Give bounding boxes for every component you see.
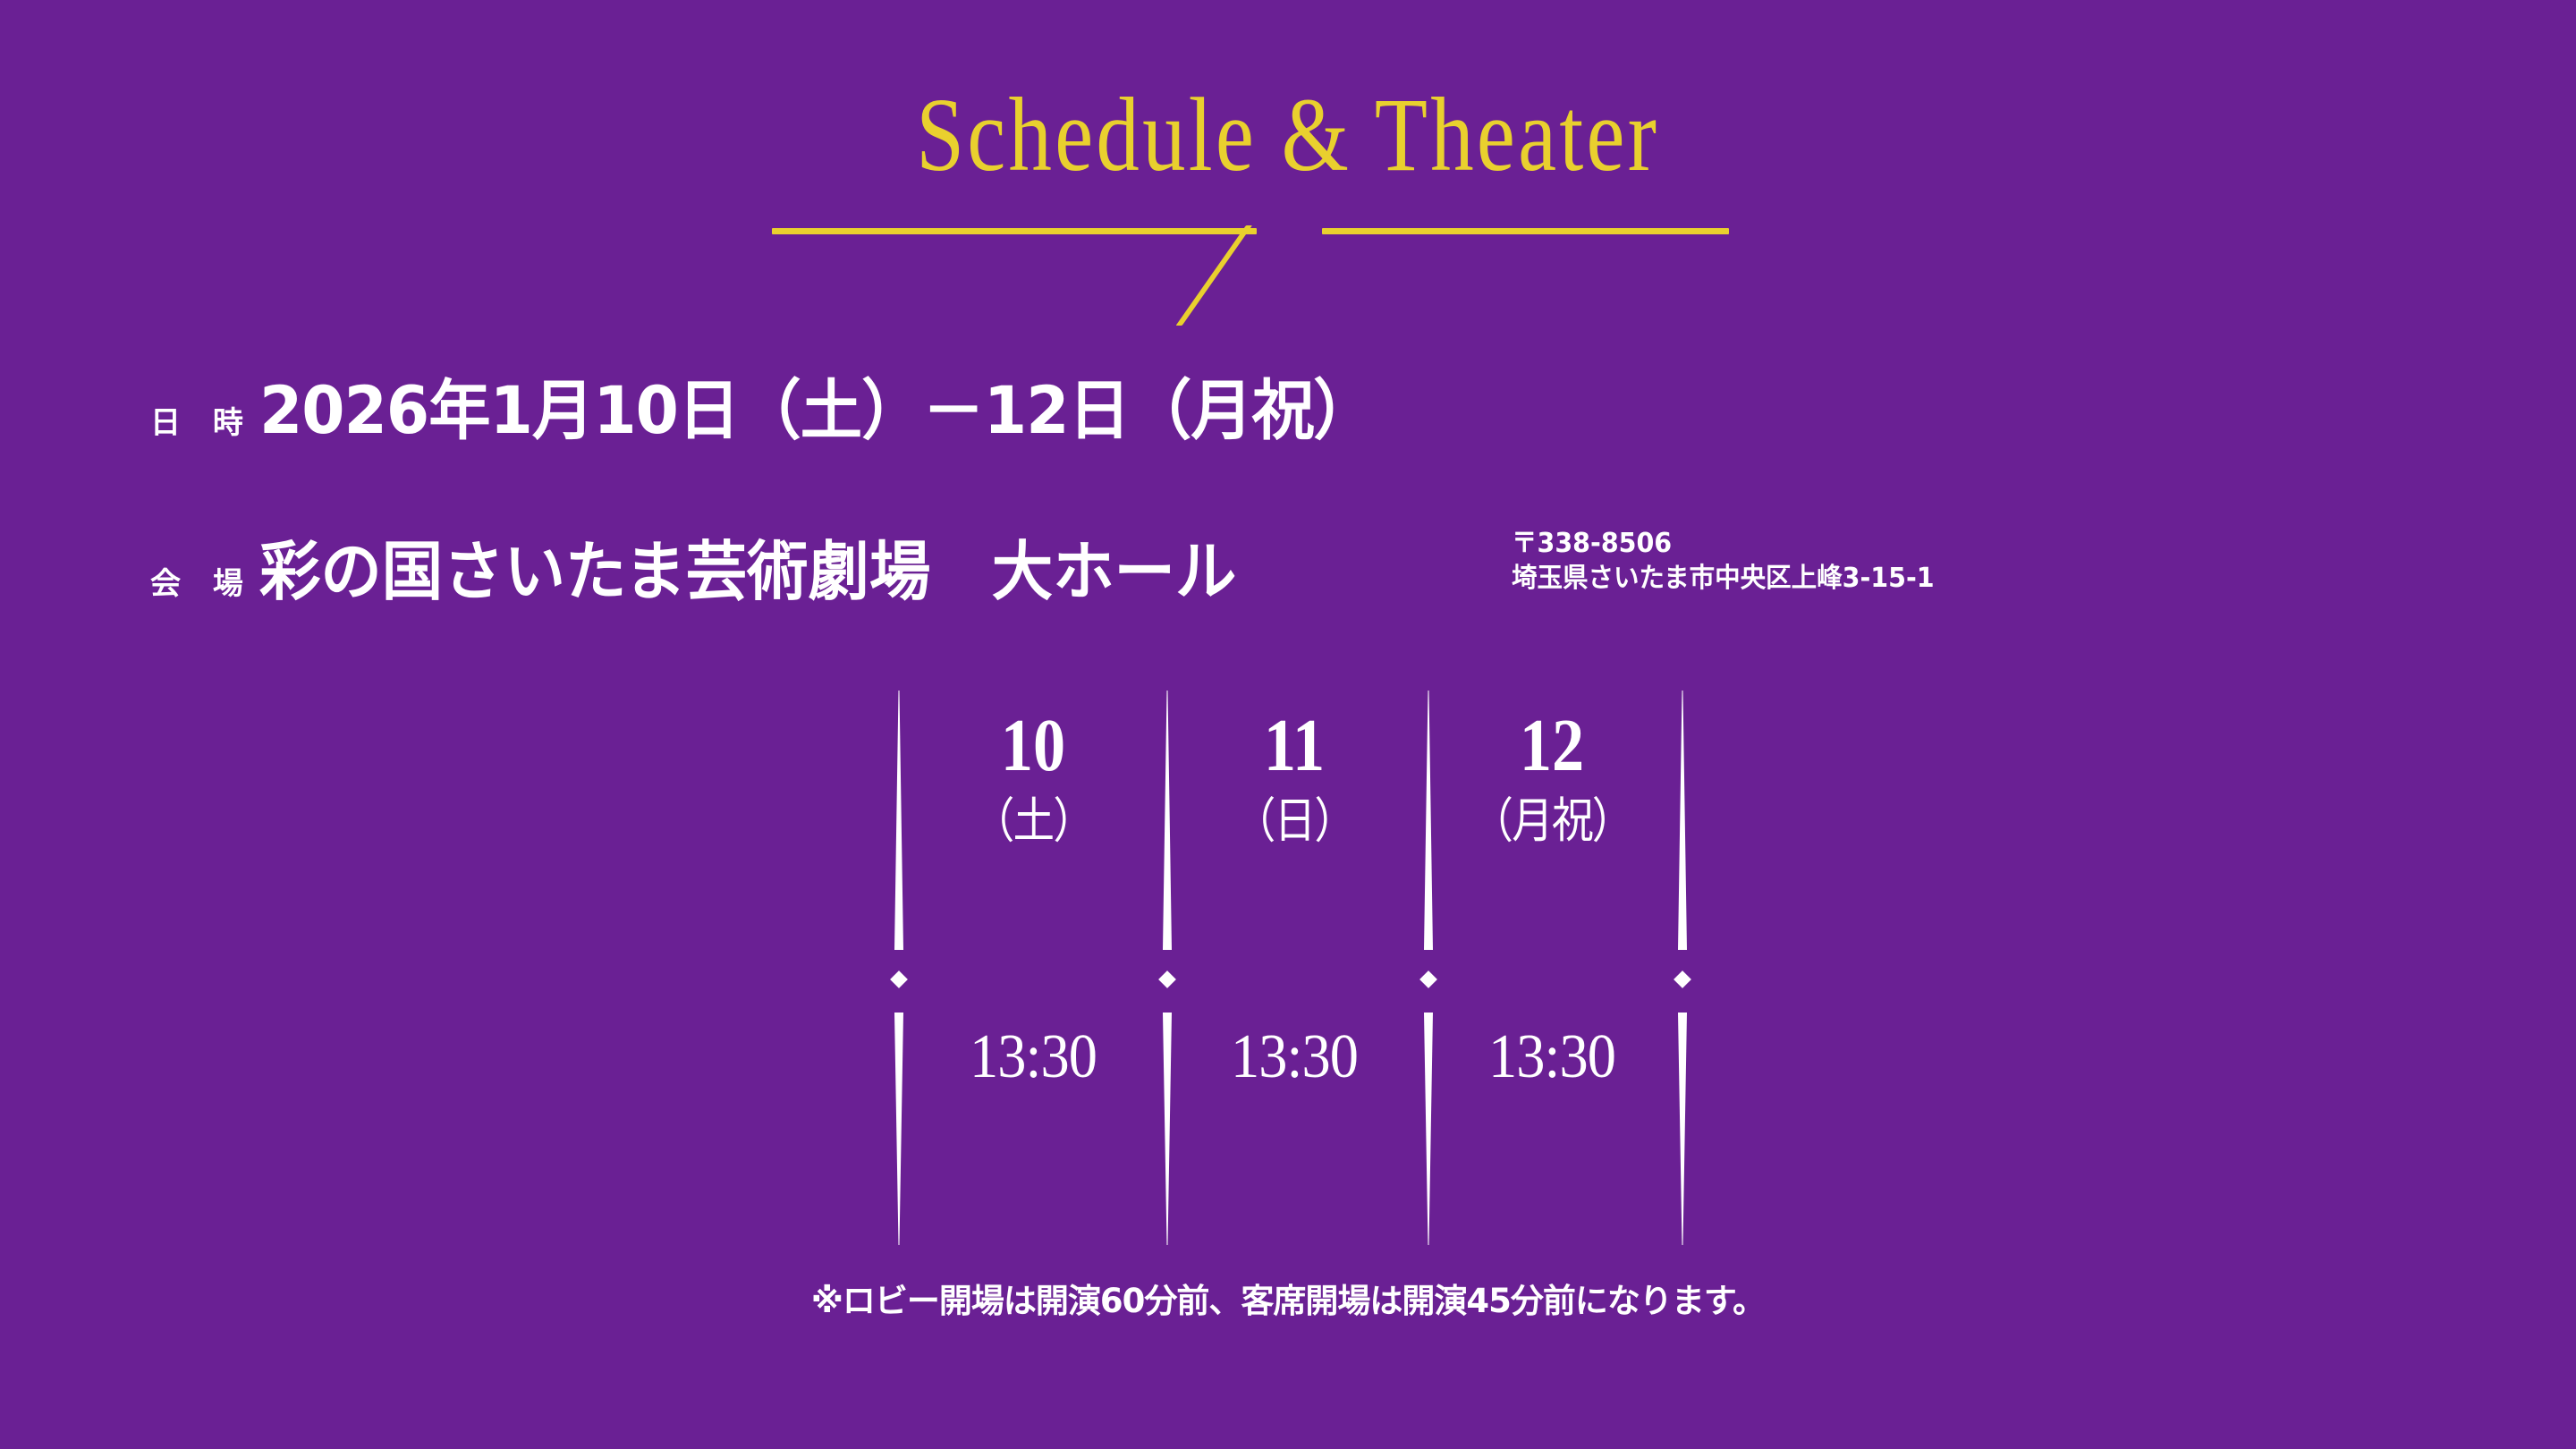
schedule-day-of-week: （月祝）: [1444, 784, 1661, 857]
divider-stroke-bottom: [1678, 1013, 1687, 1245]
divider-stroke-top: [894, 691, 903, 950]
divider-diamond-icon: [1674, 970, 1691, 988]
divider-diamond-icon: [890, 970, 908, 988]
date-value: 2026年1月10日（土）－12日（月祝）: [259, 358, 1375, 453]
title-underline-right: [1322, 228, 1729, 234]
divider-stroke-top: [1163, 691, 1172, 950]
divider-stroke-top: [1424, 691, 1433, 950]
schedule-time-cell-1: 13:30: [1175, 1021, 1414, 1093]
schedule-day-of-week: （土）: [921, 784, 1144, 857]
venue-row: 会 場 彩の国さいたま芸術劇場 大ホール: [150, 519, 1288, 613]
date-row: 日 時 2026年1月10日（土）－12日（月祝）: [150, 358, 1433, 453]
schedule-grid: 10 （土） 13:30 11 （日） 13:30 12 （月祝） 13:30: [894, 691, 1685, 1245]
schedule-note: ※ロビー開場は開演60分前、客席開場は開演45分前になります。: [0, 1274, 2576, 1322]
venue-street-address: 埼玉県さいたま市中央区上峰3-15-1: [1512, 561, 1935, 596]
divider-diamond-icon: [1158, 970, 1176, 988]
schedule-day-of-week: （日）: [1182, 784, 1405, 857]
schedule-day-number: 11: [1182, 707, 1405, 784]
divider-stroke-top: [1678, 691, 1687, 950]
schedule-theater-poster: Schedule & Theater 日 時 2026年1月10日（土）－12日…: [0, 0, 2576, 1449]
schedule-time-cell-0: 13:30: [914, 1021, 1153, 1093]
schedule-date-cell-0: 10 （土）: [921, 707, 1144, 857]
schedule-day-number: 10: [921, 707, 1144, 784]
title-block: Schedule & Theater: [0, 82, 2576, 188]
divider-diamond-icon: [1419, 970, 1437, 988]
divider-stroke-bottom: [1163, 1013, 1172, 1245]
title-slash-decoration: [1176, 225, 1252, 326]
page-title: Schedule & Theater: [916, 82, 1659, 188]
date-label: 日 時: [150, 398, 259, 442]
schedule-date-cell-2: 12 （月祝）: [1444, 707, 1661, 857]
divider-stroke-bottom: [1424, 1013, 1433, 1245]
divider-stroke-bottom: [894, 1013, 903, 1245]
venue-postal-code: 〒338-8506: [1512, 526, 1935, 561]
schedule-time-cell-2: 13:30: [1436, 1021, 1667, 1093]
schedule-date-cell-1: 11 （日）: [1182, 707, 1405, 857]
schedule-day-number: 12: [1444, 707, 1661, 784]
title-underline-left: [772, 228, 1257, 234]
venue-label: 会 場: [150, 559, 259, 603]
venue-value: 彩の国さいたま芸術劇場 大ホール: [259, 519, 1236, 613]
venue-address-block: 〒338-8506 埼玉県さいたま市中央区上峰3-15-1: [1512, 526, 1935, 596]
